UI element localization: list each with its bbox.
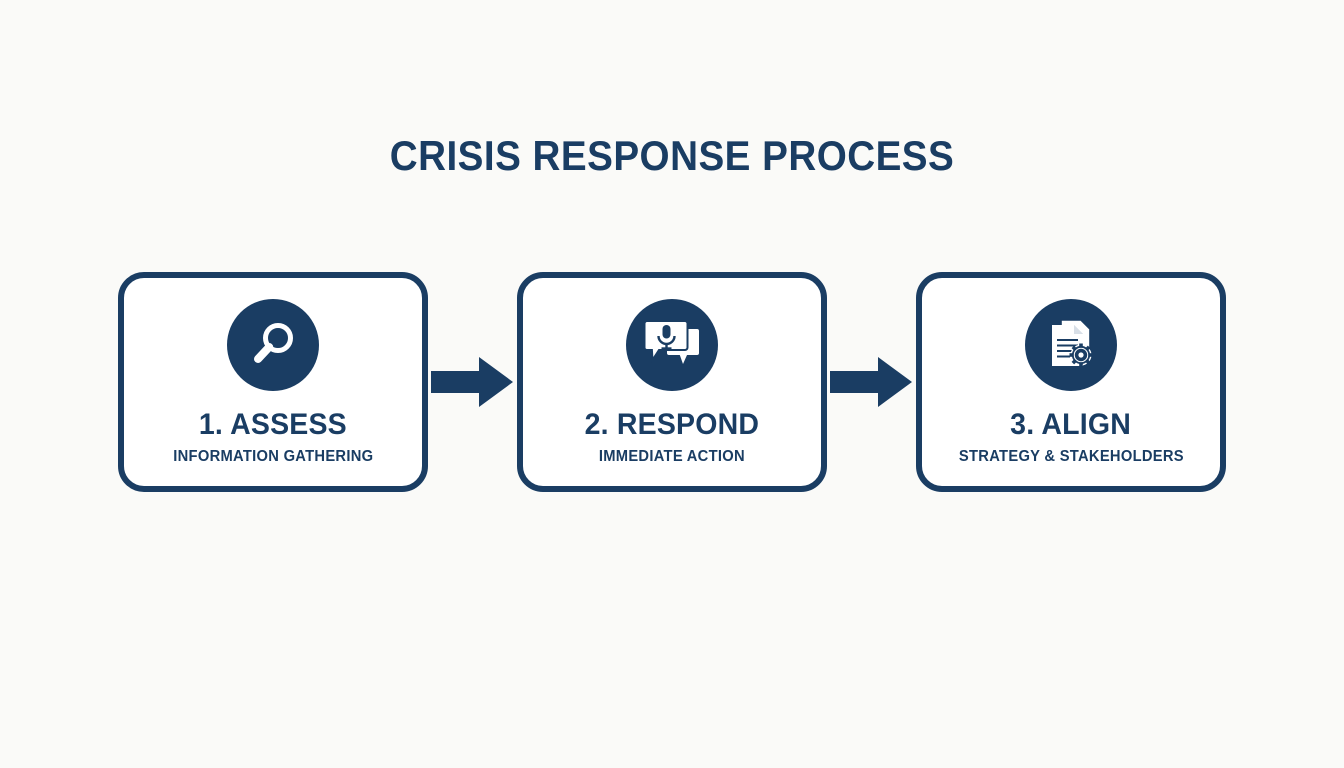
step-subtitle: STRATEGY & STAKEHOLDERS [958, 449, 1183, 465]
page-title: CRISIS RESPONSE PROCESS [54, 132, 1290, 180]
process-flow: 1. ASSESS INFORMATION GATHERING 2. RESPO… [118, 272, 1226, 492]
speech-bubble-microphone-icon [626, 299, 718, 391]
step-title: 1. ASSESS [199, 409, 347, 441]
document-gear-icon [1025, 299, 1117, 391]
step-title: 2. RESPOND [585, 409, 760, 441]
step-subtitle: INFORMATION GATHERING [173, 449, 373, 465]
step-card-align[interactable]: 3. ALIGN STRATEGY & STAKEHOLDERS [916, 272, 1226, 492]
step-title: 3. ALIGN [1011, 409, 1132, 441]
arrow-right-icon [830, 353, 914, 411]
magnifying-glass-icon [227, 299, 319, 391]
step-card-respond[interactable]: 2. RESPOND IMMEDIATE ACTION [517, 272, 827, 492]
step-card-assess[interactable]: 1. ASSESS INFORMATION GATHERING [118, 272, 428, 492]
arrow-right-icon [431, 353, 515, 411]
step-subtitle: IMMEDIATE ACTION [599, 449, 745, 465]
